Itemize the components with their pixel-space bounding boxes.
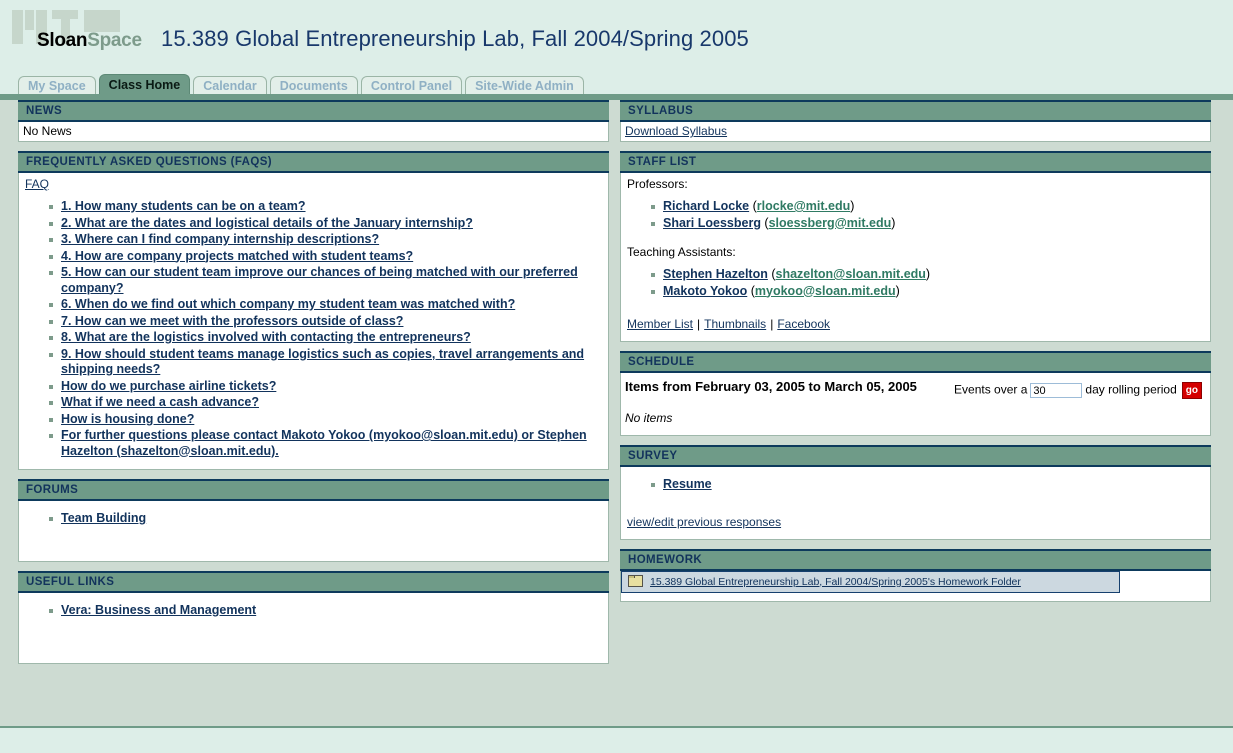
paren-close: ): [926, 267, 930, 281]
useful-links-portlet: USEFUL LINKS Vera: Business and Manageme…: [18, 571, 609, 664]
list-item: How is housing done?: [49, 412, 602, 428]
list-item: 1. How many students can be on a team?: [49, 199, 602, 215]
paren-close: ): [896, 284, 900, 298]
sloanspace-wordmark: SloanSpace: [37, 30, 142, 52]
faqs-body: FAQ 1. How many students can be on a tea…: [18, 173, 609, 470]
link-separator: |: [766, 317, 777, 331]
rolling-period-days-input[interactable]: [1030, 383, 1082, 398]
download-syllabus-row: Download Syllabus: [623, 123, 1204, 139]
list-item: How do we purchase airline tickets?: [49, 379, 602, 395]
professors-list: Richard Locke (rlocke@mit.edu) Shari Loe…: [625, 199, 1204, 231]
schedule-body: Items from February 03, 2005 to March 05…: [620, 373, 1211, 436]
page-title: 15.389 Global Entrepreneurship Lab, Fall…: [161, 26, 749, 52]
news-body: No News: [18, 122, 609, 142]
staff-footer-links: Member List|Thumbnails|Facebook: [625, 303, 1204, 335]
paren-close: ): [891, 216, 895, 230]
news-empty-text: No News: [21, 123, 602, 139]
forums-portlet: FORUMS Team Building: [18, 479, 609, 562]
useful-links-list: Vera: Business and Management: [23, 603, 602, 619]
list-item: Stephen Hazelton (shazelton@sloan.mit.ed…: [651, 267, 1204, 283]
professor-name-link[interactable]: Shari Loessberg: [663, 216, 761, 230]
faq-item-link[interactable]: 7. How can we meet with the professors o…: [61, 314, 403, 328]
list-item: 7. How can we meet with the professors o…: [49, 314, 602, 330]
paren-close: ): [850, 199, 854, 213]
professor-email-link[interactable]: rlocke@mit.edu: [757, 199, 850, 213]
news-heading: NEWS: [18, 100, 609, 122]
useful-links-body: Vera: Business and Management: [18, 593, 609, 664]
faqs-heading: FREQUENTLY ASKED QUESTIONS (FAQS): [18, 151, 609, 173]
list-item: 5. How can our student team improve our …: [49, 265, 602, 296]
survey-heading: SURVEY: [620, 445, 1211, 467]
go-button[interactable]: go: [1182, 382, 1202, 399]
survey-body: Resume view/edit previous responses: [620, 467, 1211, 540]
faq-item-link[interactable]: 4. How are company projects matched with…: [61, 249, 413, 263]
professor-name-link[interactable]: Richard Locke: [663, 199, 749, 213]
homework-folder-row[interactable]: 15.389 Global Entrepreneurship Lab, Fall…: [621, 571, 1120, 593]
homework-body-spacer: [621, 593, 1210, 601]
faq-item-link[interactable]: 8. What are the logistics involved with …: [61, 330, 471, 344]
staff-list-body: Professors: Richard Locke (rlocke@mit.ed…: [620, 173, 1211, 342]
paren-open: (: [749, 199, 757, 213]
list-item: Resume: [651, 477, 1204, 493]
list-item: 6. When do we find out which company my …: [49, 297, 602, 313]
member-list-link[interactable]: Member List: [627, 317, 693, 331]
faq-top-link-row: FAQ: [23, 175, 602, 191]
list-item: 9. How should student teams manage logis…: [49, 347, 602, 378]
list-item: 4. How are company projects matched with…: [49, 249, 602, 265]
main-tab-bar: My SpaceClass HomeCalendarDocumentsContr…: [0, 74, 1233, 94]
view-edit-previous-responses-link[interactable]: view/edit previous responses: [627, 515, 781, 529]
forums-list: Team Building: [23, 511, 602, 527]
list-item: Vera: Business and Management: [49, 603, 602, 619]
teaching-assistants-label: Teaching Assistants:: [625, 235, 1204, 259]
ta-name-link[interactable]: Stephen Hazelton: [663, 267, 768, 281]
faq-item-link[interactable]: 9. How should student teams manage logis…: [61, 347, 584, 377]
schedule-empty-text: No items: [623, 405, 1206, 429]
faq-list: 1. How many students can be on a team? 2…: [23, 199, 602, 459]
link-separator: |: [693, 317, 704, 331]
mit-logo-block: [12, 10, 23, 44]
thumbnails-link[interactable]: Thumbnails: [704, 317, 766, 331]
survey-footer-row: view/edit previous responses: [625, 497, 1204, 533]
folder-icon-tab: [628, 575, 635, 578]
faq-item-link[interactable]: How is housing done?: [61, 412, 194, 426]
mit-logo-block: [25, 10, 34, 30]
faq-item-link[interactable]: 6. When do we find out which company my …: [61, 297, 515, 311]
forums-heading: FORUMS: [18, 479, 609, 501]
faq-item-link[interactable]: 1. How many students can be on a team?: [61, 199, 306, 213]
list-item: What if we need a cash advance?: [49, 395, 602, 411]
list-item: Shari Loessberg (sloessberg@mit.edu): [651, 216, 1204, 232]
mit-logo-block: [84, 10, 120, 32]
list-item: 3. Where can I find company internship d…: [49, 232, 602, 248]
news-portlet: NEWS No News: [18, 100, 609, 142]
faqs-portlet: FREQUENTLY ASKED QUESTIONS (FAQS) FAQ 1.…: [18, 151, 609, 470]
schedule-controls-row: Items from February 03, 2005 to March 05…: [623, 375, 1206, 405]
mit-sloanspace-logo[interactable]: SloanSpace: [10, 8, 150, 54]
facebook-link[interactable]: Facebook: [777, 317, 830, 331]
survey-list: Resume: [625, 477, 1204, 493]
list-item: For further questions please contact Mak…: [49, 428, 602, 459]
faq-link[interactable]: FAQ: [25, 177, 49, 191]
homework-heading: HOMEWORK: [620, 549, 1211, 571]
schedule-range-text: Items from February 03, 2005 to March 05…: [625, 379, 917, 394]
schedule-heading: SCHEDULE: [620, 351, 1211, 373]
faq-item-link[interactable]: 2. What are the dates and logistical det…: [61, 216, 473, 230]
homework-portlet: HOMEWORK 15.389 Global Entrepreneurship …: [620, 549, 1211, 602]
rolling-period-prefix-label: Events over a: [954, 383, 1027, 397]
syllabus-heading: SYLLABUS: [620, 100, 1211, 122]
right-column: SYLLABUS Download Syllabus STAFF LIST Pr…: [620, 100, 1211, 611]
syllabus-body: Download Syllabus: [620, 122, 1211, 142]
list-item: Richard Locke (rlocke@mit.edu): [651, 199, 1204, 215]
staff-list-portlet: STAFF LIST Professors: Richard Locke (rl…: [620, 151, 1211, 342]
faq-item-link[interactable]: 5. How can our student team improve our …: [61, 265, 578, 295]
paren-open: (: [768, 267, 776, 281]
left-column: NEWS No News FREQUENTLY ASKED QUESTIONS …: [18, 100, 609, 673]
forum-link[interactable]: Team Building: [61, 511, 146, 525]
sloanspace-sloan-text: Sloan: [37, 30, 87, 51]
download-syllabus-link[interactable]: Download Syllabus: [625, 124, 727, 138]
list-item: Team Building: [49, 511, 602, 527]
list-item: 2. What are the dates and logistical det…: [49, 216, 602, 232]
staff-list-heading: STAFF LIST: [620, 151, 1211, 173]
professors-label: Professors:: [625, 175, 1204, 191]
professor-email-link[interactable]: sloessberg@mit.edu: [769, 216, 892, 230]
rolling-period-suffix-label: day rolling period: [1085, 383, 1176, 397]
paren-open: (: [761, 216, 769, 230]
ta-name-link[interactable]: Makoto Yokoo: [663, 284, 747, 298]
list-item: Makoto Yokoo (myokoo@sloan.mit.edu): [651, 284, 1204, 300]
schedule-portlet: SCHEDULE Items from February 03, 2005 to…: [620, 351, 1211, 436]
faq-item-link[interactable]: How do we purchase airline tickets?: [61, 379, 276, 393]
list-item: 8. What are the logistics involved with …: [49, 330, 602, 346]
survey-item-link[interactable]: Resume: [663, 477, 712, 491]
useful-link[interactable]: Vera: Business and Management: [61, 603, 256, 617]
page-content: NEWS No News FREQUENTLY ASKED QUESTIONS …: [0, 100, 1233, 728]
useful-links-heading: USEFUL LINKS: [18, 571, 609, 593]
folder-icon: [628, 575, 644, 588]
masthead: SloanSpace 15.389 Global Entrepreneurshi…: [0, 0, 1233, 68]
paren-open: (: [747, 284, 755, 298]
teaching-assistants-list: Stephen Hazelton (shazelton@sloan.mit.ed…: [625, 267, 1204, 299]
faq-item-link[interactable]: For further questions please contact Mak…: [61, 428, 587, 458]
ta-email-link[interactable]: shazelton@sloan.mit.edu: [776, 267, 926, 281]
homework-folder-link[interactable]: 15.389 Global Entrepreneurship Lab, Fall…: [650, 576, 1021, 588]
rolling-period-form: Events over aday rolling periodgo: [954, 382, 1202, 399]
forums-body: Team Building: [18, 501, 609, 562]
syllabus-portlet: SYLLABUS Download Syllabus: [620, 100, 1211, 142]
faq-item-link[interactable]: What if we need a cash advance?: [61, 395, 259, 409]
sloanspace-space-text: Space: [87, 30, 141, 51]
homework-body: 15.389 Global Entrepreneurship Lab, Fall…: [620, 571, 1211, 602]
ta-email-link[interactable]: myokoo@sloan.mit.edu: [755, 284, 896, 298]
survey-portlet: SURVEY Resume view/edit previous respons…: [620, 445, 1211, 540]
mit-logo-block: [52, 10, 78, 19]
faq-item-link[interactable]: 3. Where can I find company internship d…: [61, 232, 379, 246]
